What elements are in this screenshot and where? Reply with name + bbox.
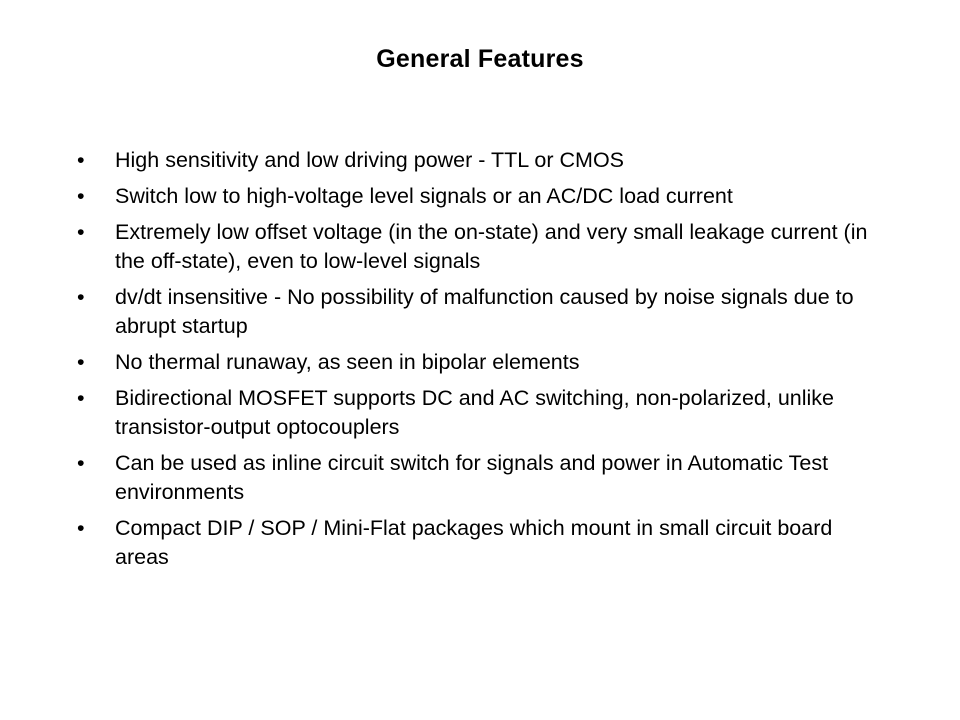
list-item: • Can be used as inline circuit switch f… [72,449,888,507]
list-item-text: Switch low to high-voltage level signals… [115,182,888,211]
bullet-icon: • [77,514,91,543]
list-item: • No thermal runaway, as seen in bipolar… [72,348,888,377]
bullet-icon: • [77,182,91,211]
features-bullet-list: • High sensitivity and low driving power… [72,146,888,572]
list-item-text: Bidirectional MOSFET supports DC and AC … [115,384,888,442]
list-item-text: High sensitivity and low driving power -… [115,146,888,175]
list-item: • Bidirectional MOSFET supports DC and A… [72,384,888,442]
list-item-text: Can be used as inline circuit switch for… [115,449,888,507]
list-item-text: No thermal runaway, as seen in bipolar e… [115,348,888,377]
list-item: • Switch low to high-voltage level signa… [72,182,888,211]
list-item-text: Compact DIP / SOP / Mini-Flat packages w… [115,514,888,572]
list-item: • Extremely low offset voltage (in the o… [72,218,888,276]
list-item-text: Extremely low offset voltage (in the on-… [115,218,888,276]
bullet-icon: • [77,146,91,175]
list-item-text: dv/dt insensitive - No possibility of ma… [115,283,888,341]
bullet-icon: • [77,348,91,377]
page-title: General Features [0,44,960,74]
bullet-icon: • [77,218,91,247]
list-item: • High sensitivity and low driving power… [72,146,888,175]
list-item: • Compact DIP / SOP / Mini-Flat packages… [72,514,888,572]
bullet-icon: • [77,384,91,413]
slide: General Features • High sensitivity and … [0,0,960,720]
bullet-icon: • [77,283,91,312]
bullet-icon: • [77,449,91,478]
list-item: • dv/dt insensitive - No possibility of … [72,283,888,341]
